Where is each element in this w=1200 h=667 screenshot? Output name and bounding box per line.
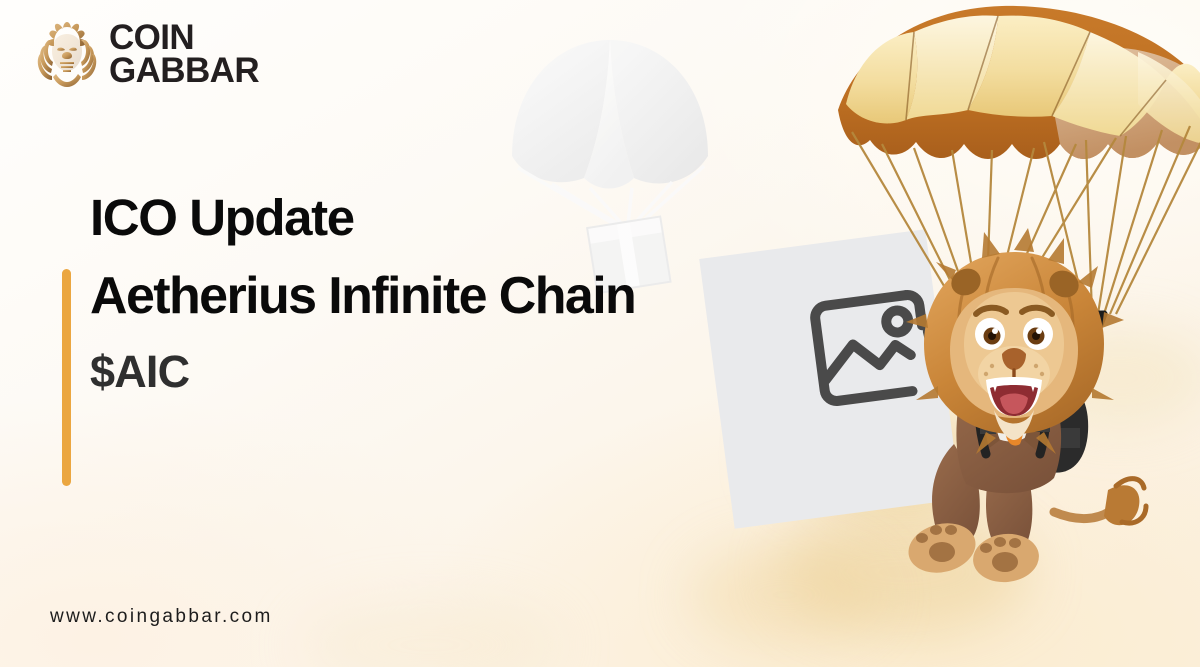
logo-wordmark: COIN GABBAR — [109, 22, 259, 87]
page-title: Aetherius Infinite Chain — [90, 267, 682, 326]
lion-head-icon — [36, 20, 98, 90]
title-row: Aetherius Infinite Chain $AIC — [62, 267, 682, 394]
background-cloud — [1030, 330, 1200, 426]
background-cloud — [690, 545, 880, 645]
background-cloud — [780, 512, 1030, 632]
eyebrow-label: ICO Update — [90, 192, 682, 243]
logo-word-line2: GABBAR — [109, 55, 259, 88]
broken-image-icon — [798, 276, 962, 426]
accent-bar — [62, 269, 71, 486]
background-cloud — [300, 600, 560, 667]
site-url[interactable]: www.coingabbar.com — [50, 606, 273, 628]
token-ticker: $AIC — [90, 349, 682, 394]
ico-update-banner: COIN GABBAR ICO Update Aetherius Infinit… — [0, 0, 1200, 667]
logo[interactable]: COIN GABBAR — [36, 20, 259, 90]
headline-block: ICO Update Aetherius Infinite Chain $AIC — [62, 192, 682, 394]
